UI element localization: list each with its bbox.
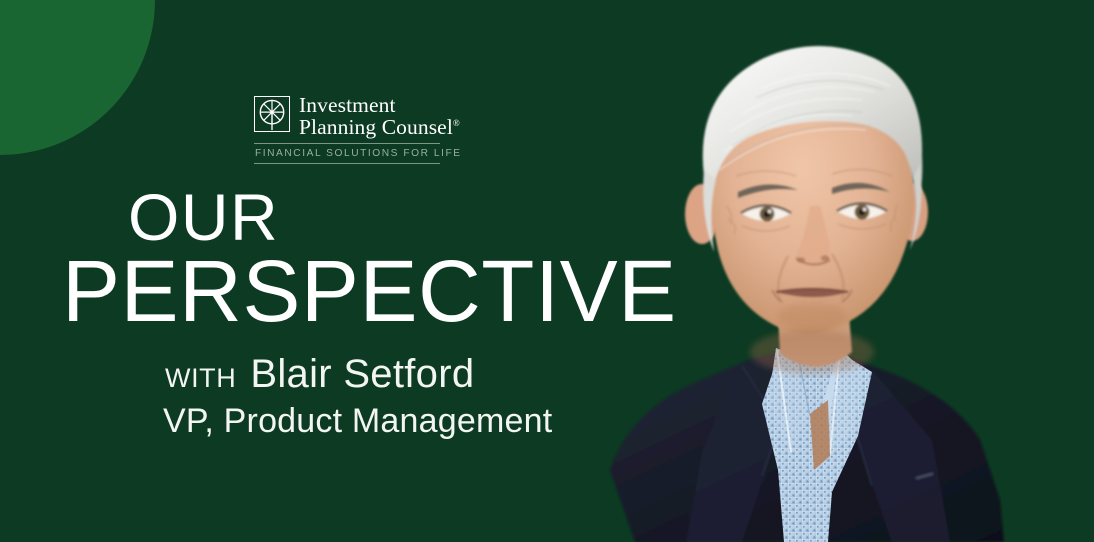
our-perspective-banner: Investment Planning Counsel® FINANCIAL S… (0, 0, 1094, 542)
headline-line-our: OUR (62, 182, 677, 252)
headline-line-perspective: PERSPECTIVE (62, 248, 677, 336)
corner-arc-decoration (0, 0, 155, 155)
subtitle-speaker-role: VP, Product Management (163, 400, 552, 442)
subtitle-with-label: WITH (165, 363, 236, 394)
logo-top-row: Investment Planning Counsel® (254, 94, 440, 138)
subtitle-name-row: WITH Blair Setford (165, 352, 552, 396)
investment-planning-counsel-logo[interactable]: Investment Planning Counsel® FINANCIAL S… (254, 94, 440, 164)
registered-trademark-icon: ® (453, 117, 460, 127)
logo-divider-bottom (254, 163, 440, 164)
logo-wordmark: Investment Planning Counsel® (299, 94, 460, 138)
headline-block: OUR PERSPECTIVE (62, 182, 677, 336)
subtitle-block: WITH Blair Setford VP, Product Managemen… (165, 352, 552, 442)
logo-wordmark-line2: Planning Counsel® (299, 117, 460, 139)
subtitle-speaker-name: Blair Setford (250, 352, 474, 396)
compass-wheel-icon (254, 96, 290, 132)
logo-tagline: FINANCIAL SOLUTIONS FOR LIFE (254, 144, 440, 163)
logo-wordmark-line1: Investment (299, 93, 396, 117)
